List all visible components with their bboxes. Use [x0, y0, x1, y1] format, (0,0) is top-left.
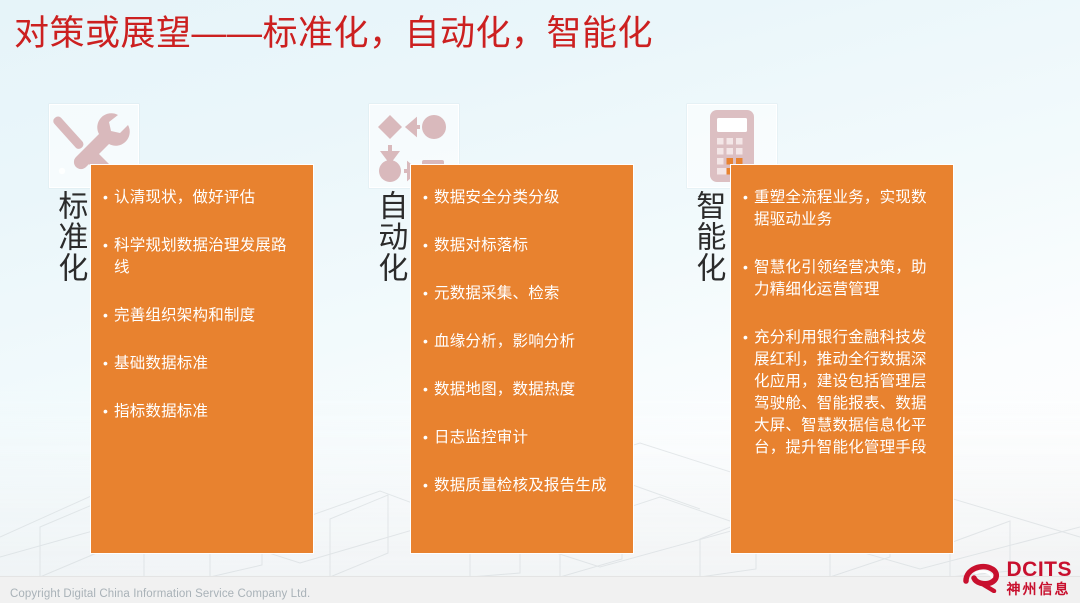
column-label-standardization: 标准化: [53, 190, 85, 283]
list-item: 数据地图，数据热度: [423, 379, 619, 401]
panel-intelligence: 重塑全流程业务，实现数据驱动业务 智慧化引领经营决策，助力精细化运营管理 充分利…: [730, 164, 954, 554]
list-item: 数据安全分类分级: [423, 187, 619, 209]
list-item: 元数据采集、检索: [423, 283, 619, 305]
bullet-list-standardization: 认清现状，做好评估 科学规划数据治理发展路线 完善组织架构和制度 基础数据标准 …: [103, 187, 299, 423]
column-label-intelligence: 智能化: [691, 190, 723, 283]
list-item: 充分利用银行金融科技发展红利，推动全行数据深化应用，建设包括管理层驾驶舱、智能报…: [743, 327, 939, 459]
logo-text-cn: 神州信息: [1007, 582, 1073, 596]
list-item: 科学规划数据治理发展路线: [103, 235, 299, 279]
column-label-automation: 自动化: [373, 190, 405, 283]
list-item: 重塑全流程业务，实现数据驱动业务: [743, 187, 939, 231]
list-item: 认清现状，做好评估: [103, 187, 299, 209]
list-item: 血缘分析，影响分析: [423, 331, 619, 353]
copyright-text: Copyright Digital China Information Serv…: [10, 588, 310, 600]
list-item: 完善组织架构和制度: [103, 305, 299, 327]
panel-automation: 数据安全分类分级 数据对标落标 元数据采集、检索 血缘分析，影响分析 数据地图，…: [410, 164, 634, 554]
list-item: 数据对标落标: [423, 235, 619, 257]
list-item: 智慧化引领经营决策，助力精细化运营管理: [743, 257, 939, 301]
list-item: 日志监控审计: [423, 427, 619, 449]
list-item: 基础数据标准: [103, 353, 299, 375]
bullet-list-intelligence: 重塑全流程业务，实现数据驱动业务 智慧化引领经营决策，助力精细化运营管理 充分利…: [743, 187, 939, 459]
dcits-swoosh-icon: [962, 561, 1002, 593]
slide-title: 对策或展望——标准化，自动化，智能化: [14, 8, 653, 60]
slide-canvas: 对策或展望——标准化，自动化，智能化 标准化 认清现状，做好评估 科学规划数据治…: [0, 0, 1080, 603]
logo-text-block: DCITS 神州信息: [1007, 559, 1073, 596]
logo-text-en: DCITS: [1007, 559, 1073, 580]
company-logo: DCITS 神州信息: [962, 557, 1073, 597]
bullet-list-automation: 数据安全分类分级 数据对标落标 元数据采集、检索 血缘分析，影响分析 数据地图，…: [423, 187, 619, 497]
list-item: 指标数据标准: [103, 401, 299, 423]
list-item: 数据质量检核及报告生成: [423, 475, 619, 497]
panel-standardization: 认清现状，做好评估 科学规划数据治理发展路线 完善组织架构和制度 基础数据标准 …: [90, 164, 314, 554]
